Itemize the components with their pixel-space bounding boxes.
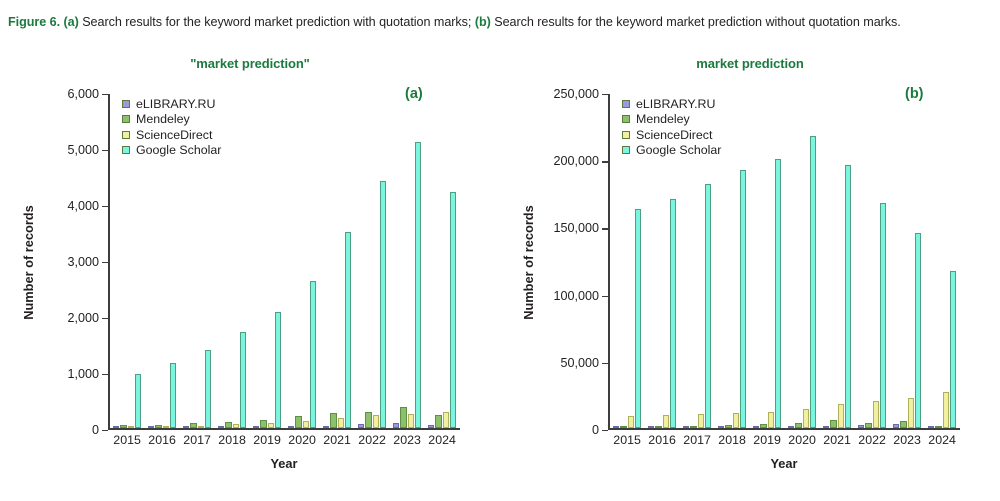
bar-sciencedirect-2022 [873,401,879,429]
bar-google-scholar-2016 [670,199,676,428]
legend-item-mendeley: Mendeley [622,112,721,128]
y-axis-tick [102,430,108,431]
legend-swatch-icon [622,115,630,123]
legend-label: Google Scholar [136,144,221,156]
bar-sciencedirect-2016 [663,415,669,429]
x-axis-tick-label: 2023 [393,433,421,447]
bar-sciencedirect-2020 [303,421,309,428]
legend-swatch-icon [622,100,630,108]
legend-swatch-icon [622,131,630,139]
bar-sciencedirect-2023 [408,414,414,428]
bar-google-scholar-2019 [775,159,781,428]
bar-sciencedirect-2015 [128,426,134,429]
x-axis-tick-label: 2021 [323,433,351,447]
figure-number: Figure 6. [8,15,60,29]
bar-sciencedirect-2018 [733,413,739,428]
bar-google-scholar-2021 [845,165,851,428]
caption-panel-b-tag: (b) [475,15,491,29]
legend-swatch-icon [622,146,630,154]
bar-mendeley-2021 [830,420,836,428]
bar-mendeley-2020 [795,423,801,429]
bar-mendeley-2019 [760,424,766,428]
bar-mendeley-2017 [190,423,196,428]
bar-group-2023: 2023 [390,94,425,428]
y-axis-tick [602,94,608,95]
legend-swatch-icon [122,146,130,154]
bar-google-scholar-2017 [205,350,211,428]
bar-google-scholar-2022 [380,181,386,428]
bar-sciencedirect-2017 [198,426,204,429]
bar-group-2023: 2023 [890,94,925,428]
bar-mendeley-2016 [155,425,161,429]
bar-elibrary-ru-2023 [393,423,399,429]
y-axis-tick [102,150,108,151]
x-axis-tick-label: 2022 [358,433,386,447]
legend-item-sciencedirect: ScienceDirect [122,127,221,143]
y-axis-tick [102,94,108,95]
legend-item-elibrary-ru: eLIBRARY.RU [122,96,221,112]
bar-elibrary-ru-2017 [683,426,689,428]
bar-google-scholar-2023 [415,142,421,428]
bar-mendeley-2018 [725,425,731,428]
bar-google-scholar-2017 [705,184,711,428]
x-axis-tick-label: 2024 [428,433,456,447]
y-axis-tick-label: 6,000 [67,87,99,101]
bar-google-scholar-2020 [810,136,816,428]
panel-b-legend: eLIBRARY.RUMendeleyScienceDirectGoogle S… [622,96,721,158]
bar-group-2019: 2019 [750,94,785,428]
bar-elibrary-ru-2020 [788,426,794,428]
panel-a-x-axis-line [108,428,460,430]
y-axis-tick-label: 4,000 [67,199,99,213]
y-axis-tick [102,318,108,319]
panel-a: "market prediction" (a) Number of record… [0,56,500,501]
bar-sciencedirect-2015 [628,416,634,428]
bar-mendeley-2024 [435,415,441,428]
bar-sciencedirect-2018 [233,424,239,428]
bar-google-scholar-2024 [950,271,956,428]
bar-mendeley-2015 [620,426,626,428]
bar-mendeley-2024 [935,426,941,428]
bar-google-scholar-2024 [450,192,456,429]
bar-google-scholar-2015 [135,374,141,429]
bar-elibrary-ru-2023 [893,424,899,428]
bar-elibrary-ru-2021 [323,426,329,428]
bar-elibrary-ru-2018 [718,426,724,428]
bar-group-2019: 2019 [250,94,285,428]
bar-sciencedirect-2020 [803,409,809,428]
y-axis-tick-label: 250,000 [553,87,599,101]
legend-label: Mendeley [636,113,690,125]
y-axis-tick [102,206,108,207]
y-axis-tick-label: 0 [92,423,99,437]
bar-group-2022: 2022 [855,94,890,428]
x-axis-tick-label: 2016 [148,433,176,447]
figure-caption: Figure 6. (a) Search results for the key… [8,14,990,32]
legend-item-mendeley: Mendeley [122,112,221,128]
bar-mendeley-2021 [330,413,336,429]
bar-sciencedirect-2024 [943,392,949,428]
panel-a-x-axis-title: Year [108,456,460,471]
x-axis-tick-label: 2021 [823,433,851,447]
bar-mendeley-2023 [900,421,906,428]
bar-elibrary-ru-2015 [113,426,119,428]
bar-sciencedirect-2021 [338,418,344,428]
x-axis-tick-label: 2020 [288,433,316,447]
y-axis-tick [602,296,608,297]
panel-b-y-axis-title-text: Number of records [521,205,536,320]
bar-google-scholar-2018 [240,332,246,428]
y-axis-tick-label: 100,000 [553,289,599,303]
bar-mendeley-2022 [365,412,371,429]
bar-group-2022: 2022 [355,94,390,428]
legend-label: ScienceDirect [636,129,712,141]
bar-mendeley-2018 [225,422,231,429]
x-axis-tick-label: 2015 [113,433,141,447]
bar-mendeley-2023 [400,407,406,429]
bar-sciencedirect-2016 [163,426,169,428]
panel-b-x-axis-line [608,428,960,430]
bar-group-2024: 2024 [425,94,460,428]
x-axis-tick-label: 2019 [753,433,781,447]
legend-label: eLIBRARY.RU [136,98,215,110]
y-axis-tick-label: 2,000 [67,311,99,325]
figure-container: Figure 6. (a) Search results for the key… [0,0,1000,501]
panel-a-y-axis-title: Number of records [18,94,38,430]
bar-elibrary-ru-2017 [183,426,189,428]
y-axis-tick-label: 0 [592,423,599,437]
bar-elibrary-ru-2016 [148,426,154,428]
bar-elibrary-ru-2021 [823,426,829,428]
bar-sciencedirect-2019 [268,423,274,429]
panel-a-y-axis-title-text: Number of records [21,205,36,320]
bar-elibrary-ru-2020 [288,426,294,428]
panel-a-title: "market prediction" [0,56,500,71]
y-axis-tick [602,363,608,364]
y-axis-tick-label: 200,000 [553,154,599,168]
x-axis-tick-label: 2023 [893,433,921,447]
bar-google-scholar-2016 [170,363,176,428]
y-axis-tick-label: 150,000 [553,221,599,235]
y-axis-tick-label: 50,000 [560,356,599,370]
panel-a-plot-area: eLIBRARY.RUMendeleyScienceDirectGoogle S… [108,94,460,430]
bar-google-scholar-2023 [915,233,921,429]
y-axis-tick-label: 1,000 [67,367,99,381]
bar-sciencedirect-2021 [838,404,844,428]
bar-google-scholar-2015 [635,209,641,429]
x-axis-tick-label: 2018 [218,433,246,447]
bar-mendeley-2020 [295,416,301,428]
bar-elibrary-ru-2022 [858,425,864,428]
x-axis-tick-label: 2019 [253,433,281,447]
x-axis-tick-label: 2016 [648,433,676,447]
bar-mendeley-2016 [655,426,661,428]
bar-sciencedirect-2022 [373,415,379,428]
bar-google-scholar-2021 [345,232,351,429]
legend-item-google-scholar: Google Scholar [622,143,721,159]
x-axis-tick-label: 2017 [183,433,211,447]
legend-label: ScienceDirect [136,129,212,141]
legend-label: eLIBRARY.RU [636,98,715,110]
panels-row: "market prediction" (a) Number of record… [0,56,1000,501]
x-axis-tick-label: 2022 [858,433,886,447]
legend-item-google-scholar: Google Scholar [122,143,221,159]
legend-item-elibrary-ru: eLIBRARY.RU [622,96,721,112]
bar-mendeley-2017 [690,426,696,428]
bar-elibrary-ru-2024 [928,426,934,428]
caption-text-a: Search results for the keyword market pr… [79,15,475,29]
legend-swatch-icon [122,131,130,139]
caption-panel-a-tag: (a) [64,15,79,29]
bar-group-2020: 2020 [285,94,320,428]
caption-text-b: Search results for the keyword market pr… [491,15,901,29]
bar-google-scholar-2020 [310,281,316,428]
bar-elibrary-ru-2024 [428,425,434,429]
x-axis-tick-label: 2017 [683,433,711,447]
x-axis-tick-label: 2020 [788,433,816,447]
bar-elibrary-ru-2019 [753,426,759,428]
panel-b: market prediction (b) Number of records … [500,56,1000,501]
y-axis-tick [102,262,108,263]
x-axis-tick-label: 2015 [613,433,641,447]
legend-label: Google Scholar [636,144,721,156]
panel-b-title: market prediction [500,56,1000,71]
bar-mendeley-2019 [260,420,266,428]
bar-sciencedirect-2024 [443,412,449,429]
bar-mendeley-2015 [120,425,126,428]
bar-sciencedirect-2023 [908,398,914,429]
y-axis-tick-label: 3,000 [67,255,99,269]
panel-a-legend: eLIBRARY.RUMendeleyScienceDirectGoogle S… [122,96,221,158]
bar-sciencedirect-2017 [698,414,704,429]
bar-elibrary-ru-2016 [648,426,654,428]
bar-group-2021: 2021 [320,94,355,428]
legend-item-sciencedirect: ScienceDirect [622,127,721,143]
bar-group-2024: 2024 [925,94,960,428]
y-axis-tick [602,430,608,431]
legend-label: Mendeley [136,113,190,125]
legend-swatch-icon [122,100,130,108]
y-axis-tick [602,228,608,229]
panel-b-x-axis-title: Year [608,456,960,471]
bar-group-2020: 2020 [785,94,820,428]
bar-elibrary-ru-2019 [253,426,259,428]
bar-google-scholar-2022 [880,203,886,429]
y-axis-tick-label: 5,000 [67,143,99,157]
x-axis-tick-label: 2024 [928,433,956,447]
y-axis-tick [602,161,608,162]
bar-sciencedirect-2019 [768,412,774,428]
panel-b-y-axis-title: Number of records [518,94,538,430]
panel-b-plot-area: eLIBRARY.RUMendeleyScienceDirectGoogle S… [608,94,960,430]
bar-google-scholar-2018 [740,170,746,429]
bar-elibrary-ru-2018 [218,426,224,428]
y-axis-tick [102,374,108,375]
bar-elibrary-ru-2022 [358,424,364,429]
legend-swatch-icon [122,115,130,123]
bar-group-2021: 2021 [820,94,855,428]
bar-google-scholar-2019 [275,312,281,429]
x-axis-tick-label: 2018 [718,433,746,447]
bar-mendeley-2022 [865,423,871,429]
bar-elibrary-ru-2015 [613,426,619,428]
